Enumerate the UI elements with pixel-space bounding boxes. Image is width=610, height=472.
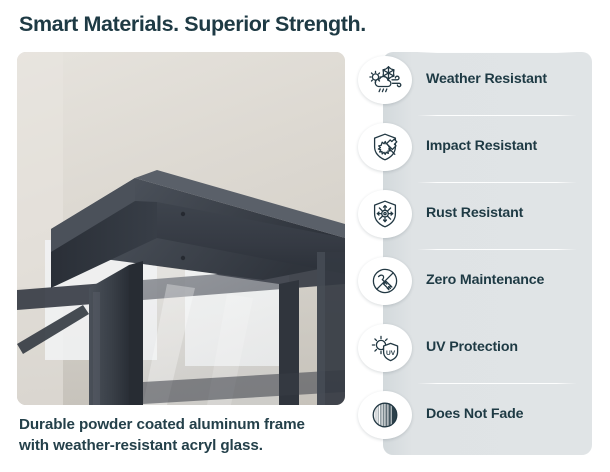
feature-label: UV Protection [426,340,518,356]
svg-text:UV: UV [386,350,396,357]
page-title: Smart Materials. Superior Strength. [19,12,366,37]
feature-row-does-not-fade[interactable]: Does Not Fade [358,387,592,443]
feature-row-impact-resistant[interactable]: Impact Resistant [358,119,592,175]
feature-list: Weather Resistant Impact Resistant [0,52,610,455]
infographic-canvas: Smart Materials. Superior Strength. [0,0,610,472]
feature-row-uv-protection[interactable]: UV UV Protection [358,320,592,376]
feature-label: Does Not Fade [426,407,523,423]
rust-shield-icon [358,190,412,238]
color-fastness-icon [358,391,412,439]
feature-row-weather-resistant[interactable]: Weather Resistant [358,52,592,108]
weather-icon [358,56,412,104]
uv-shield-icon: UV [358,324,412,372]
feature-divider [418,115,576,116]
feature-row-rust-resistant[interactable]: Rust Resistant [358,186,592,242]
feature-divider [418,249,576,250]
feature-label: Weather Resistant [426,72,547,88]
feature-divider [418,52,576,53]
feature-divider [418,383,576,384]
no-cleaning-brush-icon [358,257,412,305]
feature-label: Impact Resistant [426,139,537,155]
feature-label: Rust Resistant [426,206,523,222]
feature-row-zero-maintenance[interactable]: Zero Maintenance [358,253,592,309]
feature-divider [418,182,576,183]
feature-label: Zero Maintenance [426,273,544,289]
impact-shield-icon [358,123,412,171]
